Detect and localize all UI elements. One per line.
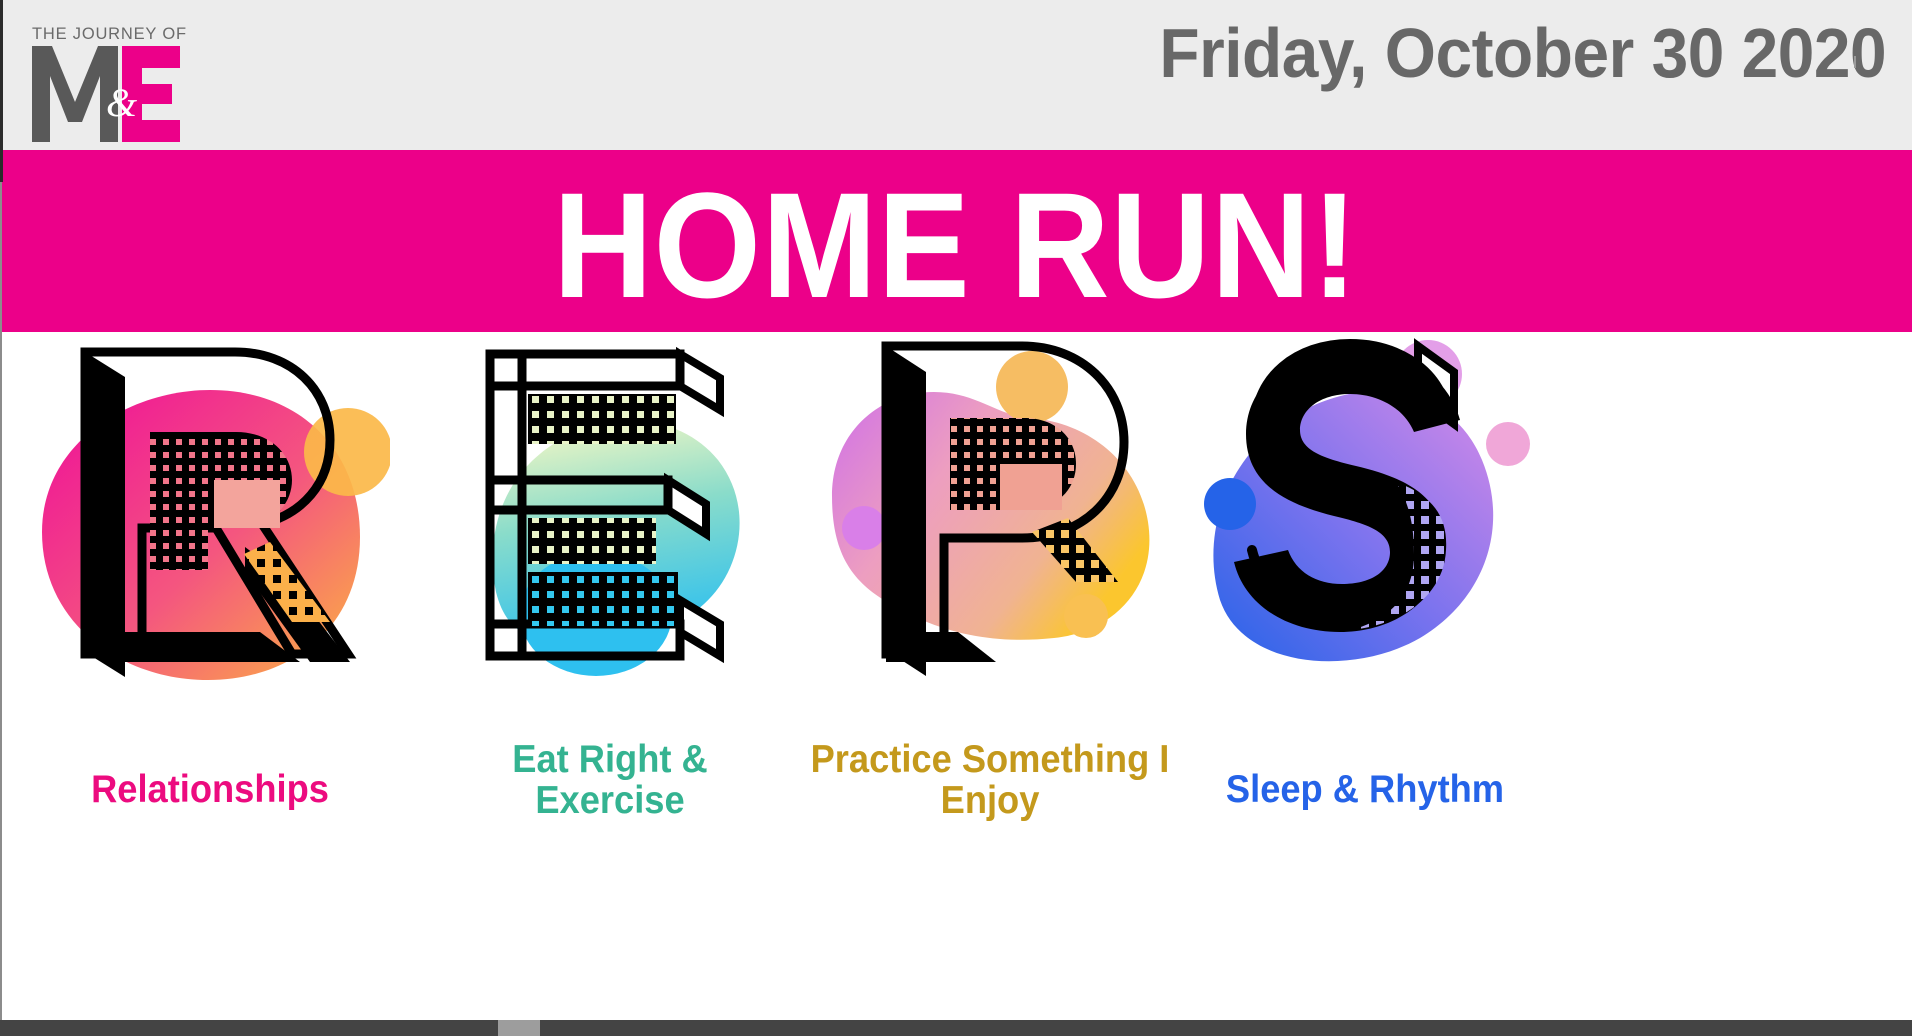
blob-p-accent-top <box>996 351 1068 423</box>
letter-e-arm-mid <box>528 518 656 564</box>
blob-p-accent-bottom <box>1064 594 1108 638</box>
horizontal-scrollbar-thumb[interactable] <box>498 1020 540 1036</box>
letter-s-graphic <box>1192 332 1532 722</box>
pillar-label-sleep: Sleep & Rhythm <box>1193 770 1537 811</box>
right-edge-rule <box>1854 56 1856 68</box>
blob-p-accent-left <box>842 506 886 550</box>
blob-s-accent-left <box>1204 478 1256 530</box>
pillar-label-practice: Practice Something I Enjoy <box>804 740 1176 821</box>
logo-ampersand: & <box>106 80 137 125</box>
pillar-card-eat-right[interactable] <box>468 332 768 727</box>
letter-p-shadow-stem <box>886 346 926 676</box>
letter-r-shadow-left <box>85 352 125 677</box>
header-bar: THE JOURNEY OF & Friday, October 30 2020 <box>0 0 1912 150</box>
letter-p-graphic <box>818 332 1190 722</box>
letter-e-graphic <box>468 332 768 722</box>
pillar-label-eat-right: Eat Right & Exercise <box>452 740 768 821</box>
reps-area: Relationships <box>0 332 1912 1020</box>
letter-e-arm-top <box>528 394 676 444</box>
blob-s-accent-right <box>1486 422 1530 466</box>
pillar-card-sleep[interactable] <box>1192 332 1532 727</box>
logo: THE JOURNEY OF & <box>30 8 200 142</box>
left-edge-rule-lower <box>0 182 2 1036</box>
header-date: Friday, October 30 2020 <box>1159 18 1886 88</box>
pillar-label-relationships: Relationships <box>43 770 378 811</box>
pillar-card-practice[interactable] <box>818 332 1190 727</box>
left-edge-rule <box>0 0 3 182</box>
logo-tagline: THE JOURNEY OF <box>32 25 187 44</box>
logo-wordmark-me: & <box>30 44 202 144</box>
horizontal-scrollbar[interactable] <box>0 1020 1912 1036</box>
banner-title: HOME RUN! <box>553 170 1359 320</box>
home-run-banner: HOME RUN! <box>0 150 1912 332</box>
pillar-card-relationships[interactable] <box>30 332 390 727</box>
slide-root: THE JOURNEY OF & Friday, October 30 2020… <box>0 0 1912 1036</box>
letter-r-graphic <box>30 332 390 722</box>
letter-e-arm-bottom <box>528 572 678 626</box>
